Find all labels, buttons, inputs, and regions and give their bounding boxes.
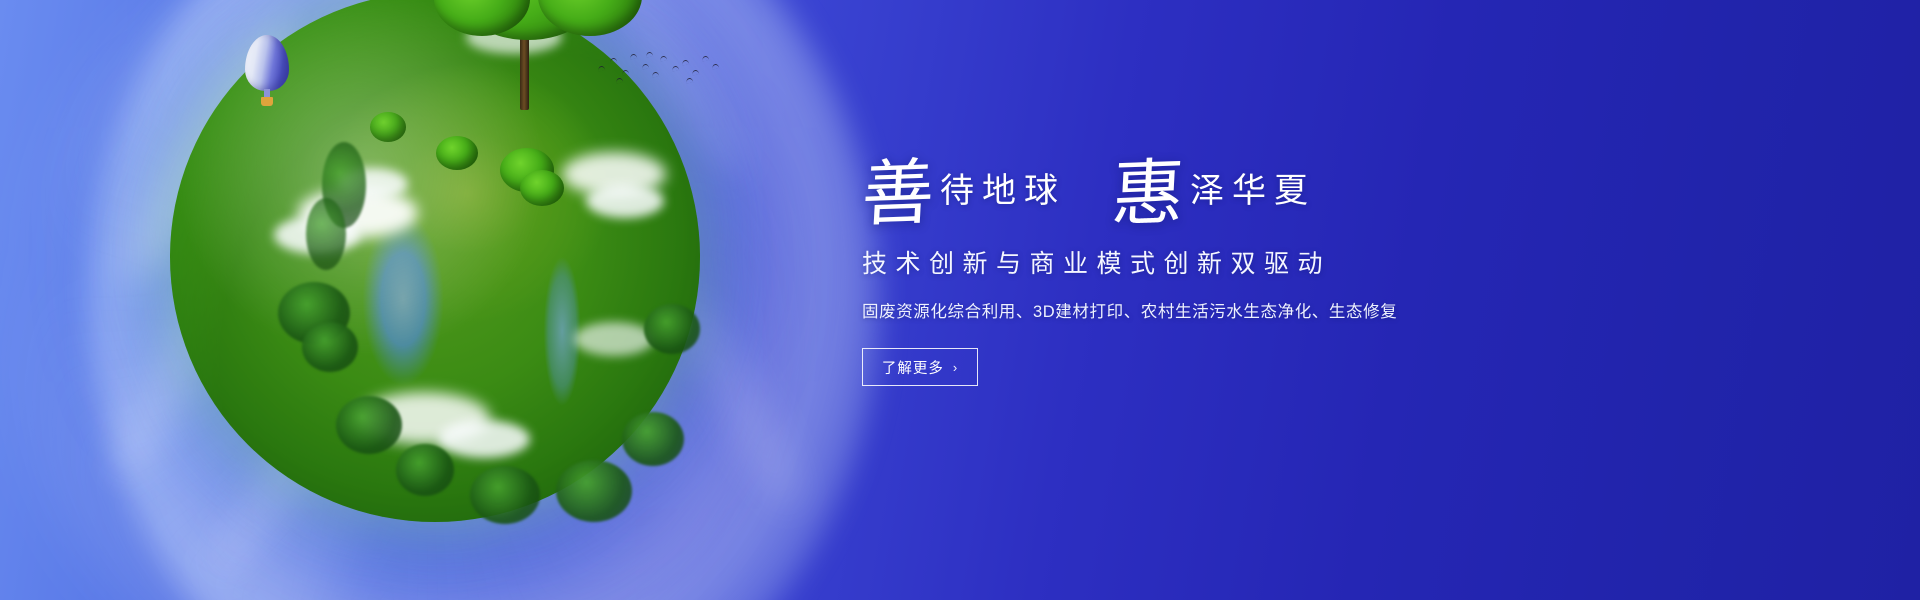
rim-tree	[556, 460, 632, 522]
learn-more-label: 了解更多	[882, 357, 944, 378]
hero-banner: 善 待地球 惠 泽华夏 技术创新与商业模式创新双驱动 固废资源化综合利用、3D建…	[0, 0, 1920, 600]
rim-tree	[470, 466, 540, 524]
chevron-right-icon: ›	[953, 360, 958, 375]
rim-tree	[302, 322, 358, 372]
headline-small-group-1: 待地球	[940, 163, 1066, 226]
balloon-basket	[261, 97, 273, 106]
rim-tree	[396, 444, 454, 496]
hot-air-balloon	[245, 35, 289, 113]
rim-tree	[644, 304, 700, 354]
banner-description: 固废资源化综合利用、3D建材打印、农村生活污水生态净化、生态修复	[862, 298, 1582, 322]
banner-subtitle: 技术创新与商业模式创新双驱动	[862, 244, 1582, 280]
banner-copy-block: 善 待地球 惠 泽华夏 技术创新与商业模式创新双驱动 固废资源化综合利用、3D建…	[862, 118, 1582, 386]
headline-brush-char-2: 惠	[1110, 159, 1186, 228]
learn-more-button[interactable]: 了解更多 ›	[862, 348, 978, 386]
rim-tree	[306, 198, 346, 270]
rim-tree	[336, 396, 402, 454]
headline: 善 待地球 惠 泽华夏	[862, 118, 1582, 226]
bird-flock	[596, 50, 726, 86]
rim-tree	[622, 412, 684, 466]
headline-small-group-2: 泽华夏	[1190, 163, 1316, 226]
headline-brush-char-1: 善	[860, 159, 936, 228]
balloon-envelope	[245, 35, 289, 91]
